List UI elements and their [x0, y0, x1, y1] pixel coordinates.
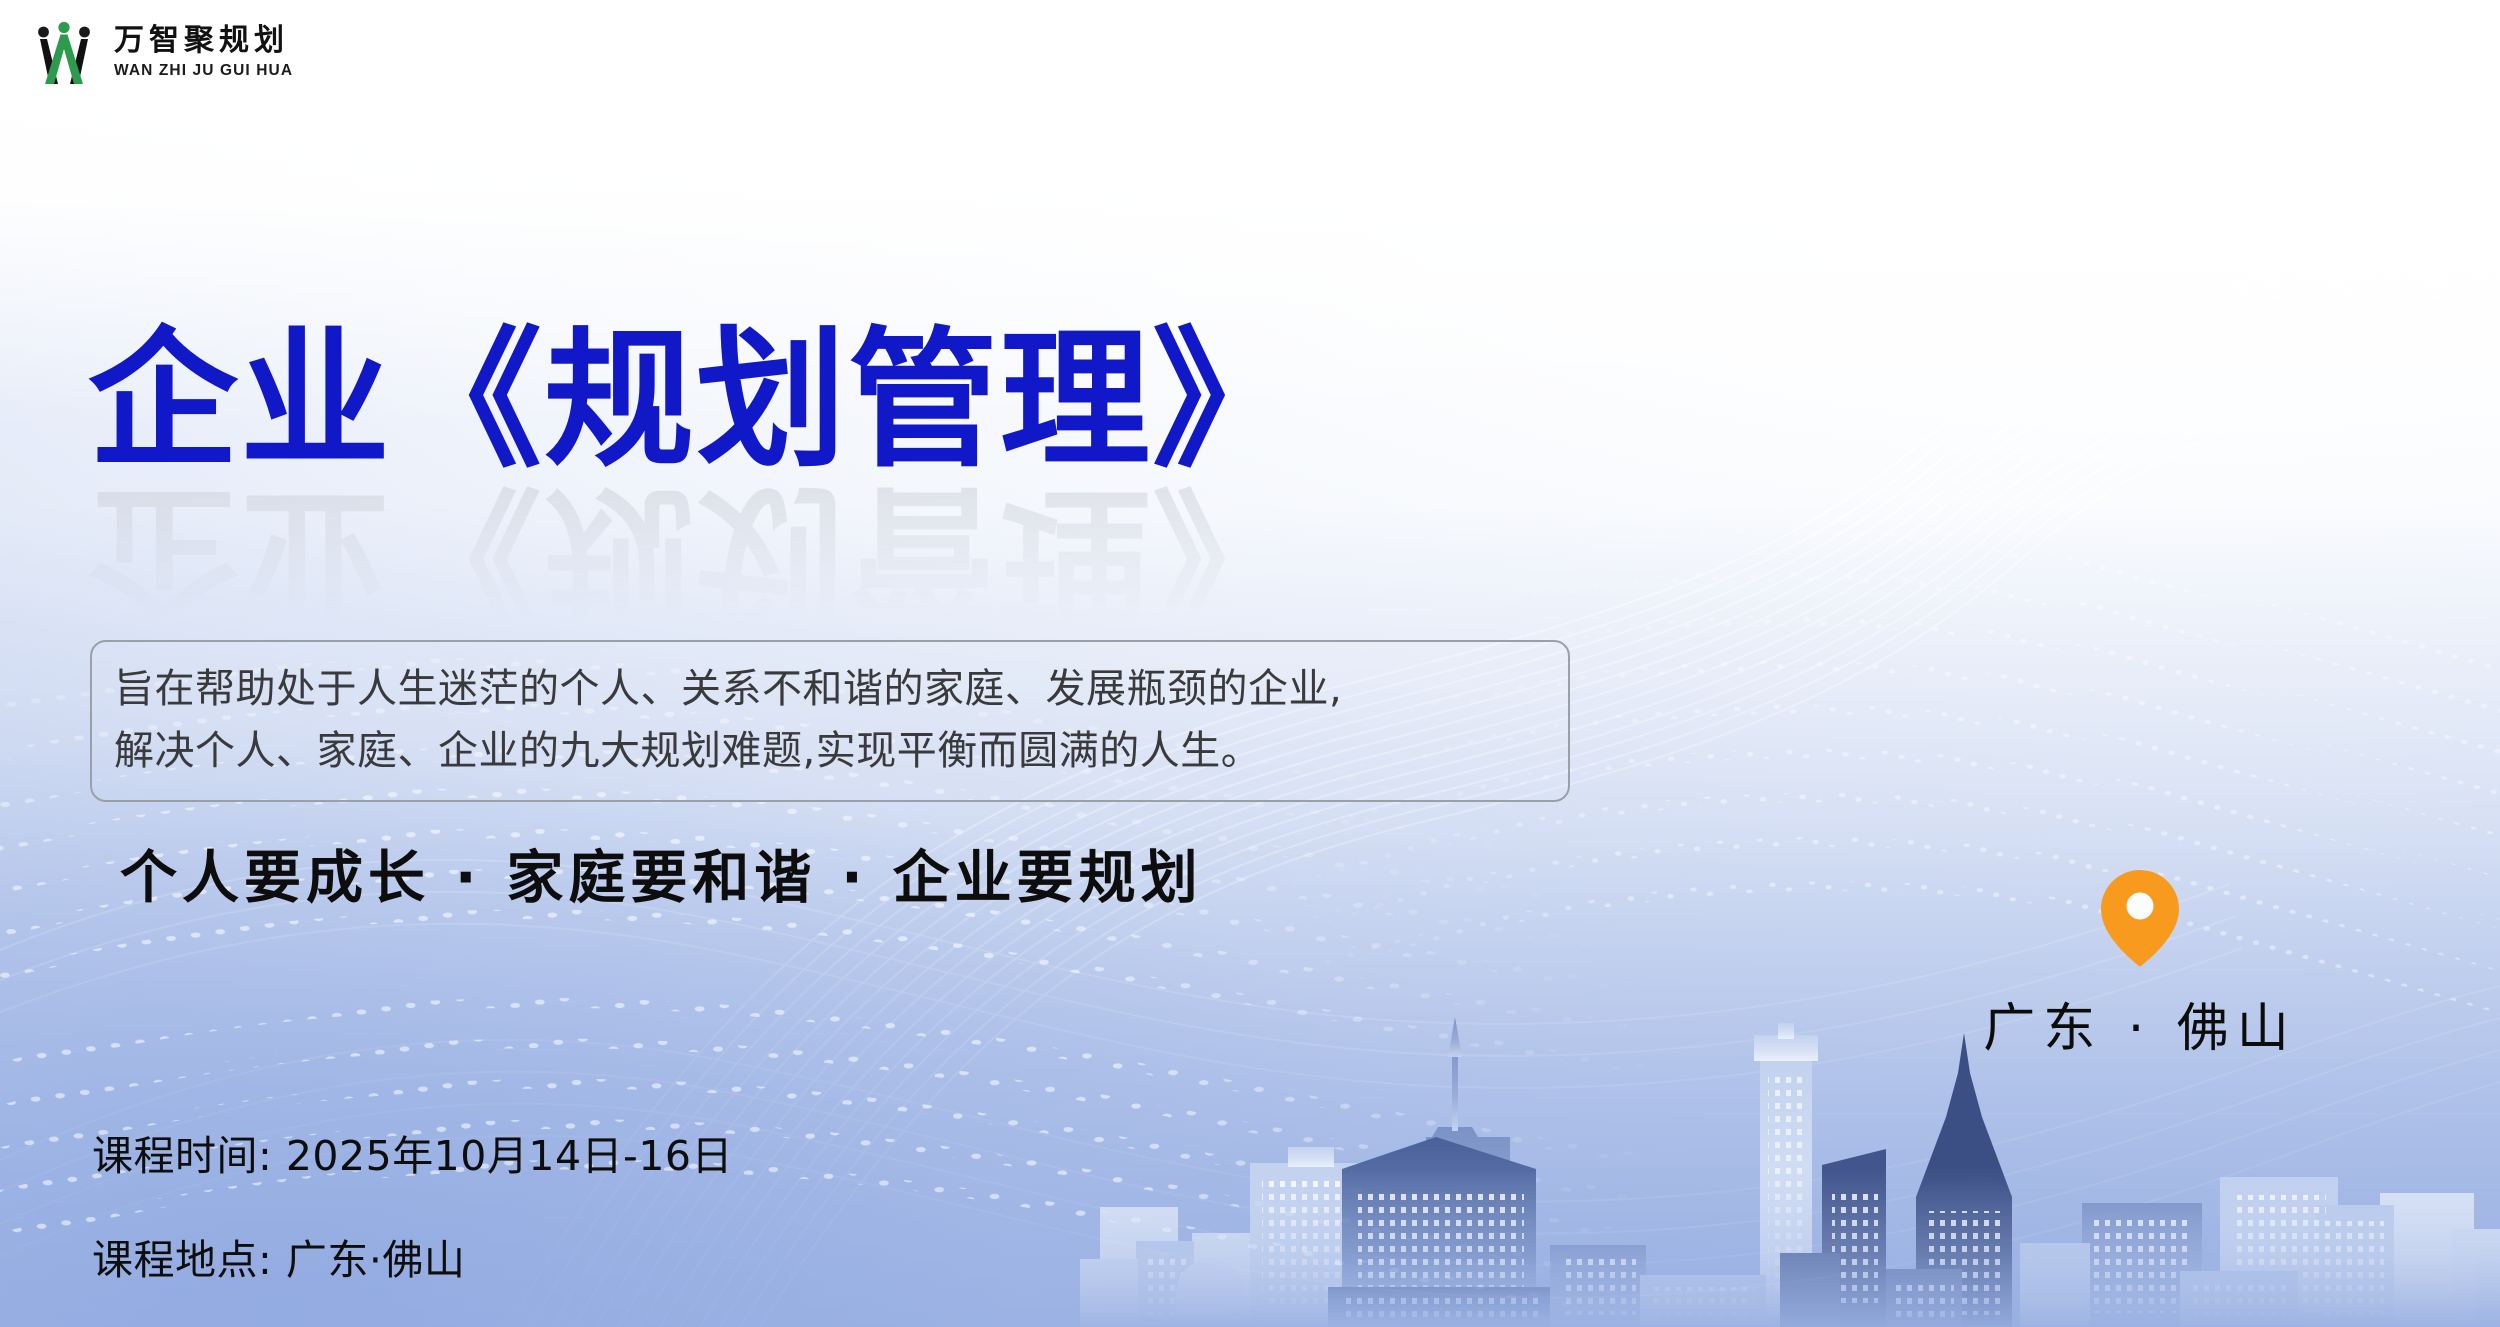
- map-pin-icon: [2098, 868, 2182, 968]
- brand-logo: 万智聚规划 WAN ZHI JU GUI HUA: [28, 18, 293, 86]
- location-city: 广东 · 佛山: [1950, 986, 2330, 1061]
- brand-logo-text: 万智聚规划 WAN ZHI JU GUI HUA: [114, 26, 293, 79]
- hero-title-group: 企业《规划管理》 企业《规划管理》: [88, 326, 1304, 628]
- three-people-logo-icon: [28, 18, 100, 86]
- course-place-row: 课程地点: 广东·佛山: [92, 1226, 733, 1286]
- brand-name-cn: 万智聚规划: [114, 26, 293, 56]
- course-time-row: 课程时间: 2025年10月14日-16日: [92, 1122, 733, 1182]
- course-info: 课程时间: 2025年10月14日-16日 课程地点: 广东·佛山: [92, 1122, 733, 1286]
- poster-canvas: 万智聚规划 WAN ZHI JU GUI HUA 企业《规划管理》 企业《规划管…: [0, 0, 2500, 1327]
- page-title-reflection: 企业《规划管理》: [88, 478, 1304, 628]
- slogan-text: 个人要成长 · 家庭要和谐 · 企业要规划: [120, 832, 1203, 914]
- description-line-2: 解决个人、家庭、企业的九大规划难题,实现平衡而圆满的人生。: [114, 720, 1546, 782]
- description-line-1: 旨在帮助处于人生迷茫的个人、关系不和谐的家庭、发展瓶颈的企业,: [114, 658, 1546, 720]
- description-box: 旨在帮助处于人生迷茫的个人、关系不和谐的家庭、发展瓶颈的企业, 解决个人、家庭、…: [90, 640, 1570, 802]
- page-title: 企业《规划管理》: [88, 326, 1304, 476]
- location-group: 广东 · 佛山: [1950, 868, 2330, 1061]
- brand-name-en: WAN ZHI JU GUI HUA: [114, 63, 293, 79]
